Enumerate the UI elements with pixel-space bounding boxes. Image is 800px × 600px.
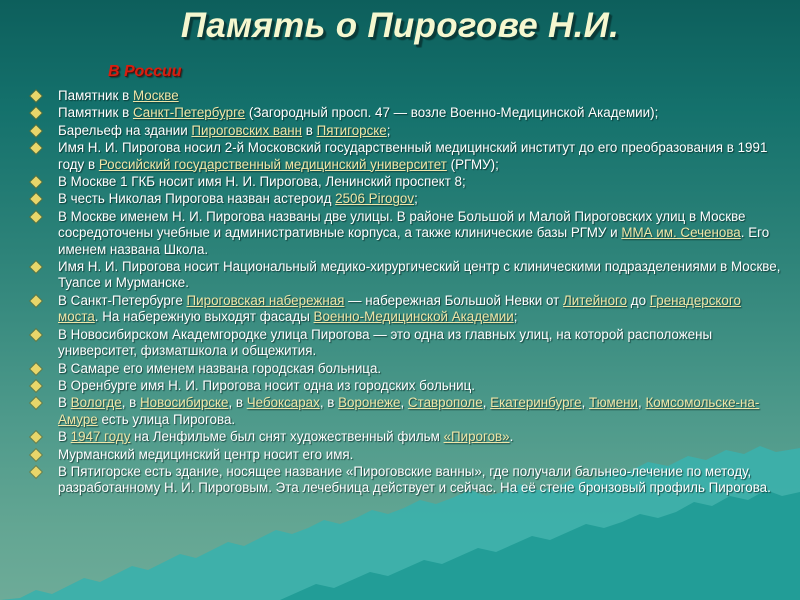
body-text: Памятник в [58,88,133,103]
body-text: , в [228,395,246,410]
hyperlink-text[interactable]: Пироговская набережная [187,293,345,308]
bullet-ulicy-pirogova-goroda: В Вологде, в Новосибирске, в Чебоксарах,… [30,395,782,428]
body-text: (РГМУ); [447,157,499,172]
body-text: (Загородный просп. 47 — возле Военно-Мед… [245,105,658,120]
bullet-gkb-1-moskva: В Москве 1 ГКБ носит имя Н. И. Пирогова,… [30,174,782,190]
body-text: . На набережную выходят фасады [95,309,314,324]
hyperlink-text[interactable]: Воронеже [338,395,400,410]
hyperlink-text[interactable]: Вологде [71,395,122,410]
body-text: на Ленфильме был снят художественный фил… [130,429,443,444]
bullet-pirogovskie-ulicy: В Москве именем Н. И. Пирогова названы д… [30,209,782,258]
body-text: В честь Николая Пирогова назван астероид [58,191,335,206]
bullet-orenburg: В Оренбурге имя Н. И. Пирогова носит одн… [30,378,782,394]
body-text: В Оренбурге имя Н. И. Пирогова носит одн… [58,378,475,393]
body-text: В [58,395,71,410]
diamond-bullet-icon [30,143,41,154]
hyperlink-text[interactable]: Санкт-Петербурге [133,105,245,120]
bullet-asteroid: В честь Николая Пирогова назван астероид… [30,191,782,207]
bullet-samara: В Самаре его именем названа городская бо… [30,361,782,377]
hyperlink-text[interactable]: Новосибирске [140,395,228,410]
diamond-bullet-icon [30,380,41,391]
body-text: , [582,395,589,410]
bullet-murmansk: Мурманский медицинский центр носит его и… [30,447,782,463]
body-text: , в [122,395,140,410]
hyperlink-text[interactable]: Екатеринбурге [490,395,581,410]
hyperlink-text[interactable]: Российский государственный медицинский у… [99,157,447,172]
body-text: ; [387,123,391,138]
body-text: , [400,395,407,410]
body-text: Барельеф на здании [58,123,191,138]
hyperlink-text[interactable]: Чебоксарах [247,395,320,410]
body-text: есть улица Пирогова. [98,412,235,427]
body-text: ; [414,191,418,206]
hyperlink-text[interactable]: 2506 Pirogov [335,191,414,206]
hyperlink-text[interactable]: Пятигорске [317,123,387,138]
diamond-bullet-icon [30,449,41,460]
diamond-bullet-icon [30,176,41,187]
slide-title: Память о Пирогове Н.И. [0,6,800,46]
hyperlink-text[interactable]: Тюмени [589,395,638,410]
diamond-bullet-icon [30,108,41,119]
hyperlink-text[interactable]: Пироговских ванн [191,123,302,138]
body-text: — набережная Большой Невки от [344,293,563,308]
body-text: до [627,293,650,308]
hyperlink-text[interactable]: ММА им. Сеченова [621,225,740,240]
body-text: ; [514,309,518,324]
bullet-novosibirsk-akademgorodok: В Новосибирском Академгородке улица Пиро… [30,327,782,360]
diamond-bullet-icon [30,363,41,374]
bullet-pyatigorsk-vanny: В Пятигорске есть здание, носящее назван… [30,464,782,497]
body-text: В Пятигорске есть здание, носящее назван… [58,464,771,495]
diamond-bullet-icon [30,125,41,136]
bullet-pirogovskaya-naberezhnaya: В Санкт-Петербурге Пироговская набережна… [30,293,782,326]
hyperlink-text[interactable]: Военно-Медицинской Академии [314,309,514,324]
body-text: В Москве 1 ГКБ носит имя Н. И. Пирогова,… [58,174,466,189]
body-text: Мурманский медицинский центр носит его и… [58,447,353,462]
hyperlink-text[interactable]: Москве [133,88,179,103]
presentation-slide: Память о Пирогове Н.И. В России Памятник… [0,0,800,600]
bullet-film-pirogov: В 1947 году на Ленфильме был снят художе… [30,429,782,445]
diamond-bullet-icon [30,261,41,272]
body-text: В Санкт-Петербурге [58,293,187,308]
bullet-list: Памятник в МосквеПамятник в Санкт-Петерб… [30,88,782,498]
body-text: Памятник в [58,105,133,120]
body-text: В Новосибирском Академгородке улица Пиро… [58,327,712,358]
diamond-bullet-icon [30,398,41,409]
hyperlink-text[interactable]: Ставрополе [408,395,483,410]
bullet-pamyatnik-moskva: Памятник в Москве [30,88,782,104]
bullet-barelyef-pyatigorsk: Барельеф на здании Пироговских ванн в Пя… [30,123,782,139]
diamond-bullet-icon [30,211,41,222]
diamond-bullet-icon [30,90,41,101]
body-text: в [302,123,317,138]
diamond-bullet-icon [30,431,41,442]
diamond-bullet-icon [30,295,41,306]
bullet-2oy-mgmi-rgmu: Имя Н. И. Пирогова носил 2-й Московский … [30,140,782,173]
ridge-front-layer [280,490,800,600]
hyperlink-text[interactable]: 1947 году [71,429,131,444]
bullet-pamyatnik-spb: Памятник в Санкт-Петербурге (Загородный … [30,105,782,121]
body-text: В [58,429,71,444]
body-text: , в [320,395,338,410]
section-heading-v-rossii: В России [108,63,182,81]
body-text: Имя Н. И. Пирогова носит Национальный ме… [58,259,780,290]
hyperlink-text[interactable]: Литейного [563,293,627,308]
bullet-nacionalnyy-centr: Имя Н. И. Пирогова носит Национальный ме… [30,259,782,292]
body-text: . [510,429,514,444]
diamond-bullet-icon [30,194,41,205]
diamond-bullet-icon [30,329,41,340]
diamond-bullet-icon [30,466,41,477]
hyperlink-text[interactable]: «Пирогов» [444,429,510,444]
body-text: В Самаре его именем названа городская бо… [58,361,381,376]
